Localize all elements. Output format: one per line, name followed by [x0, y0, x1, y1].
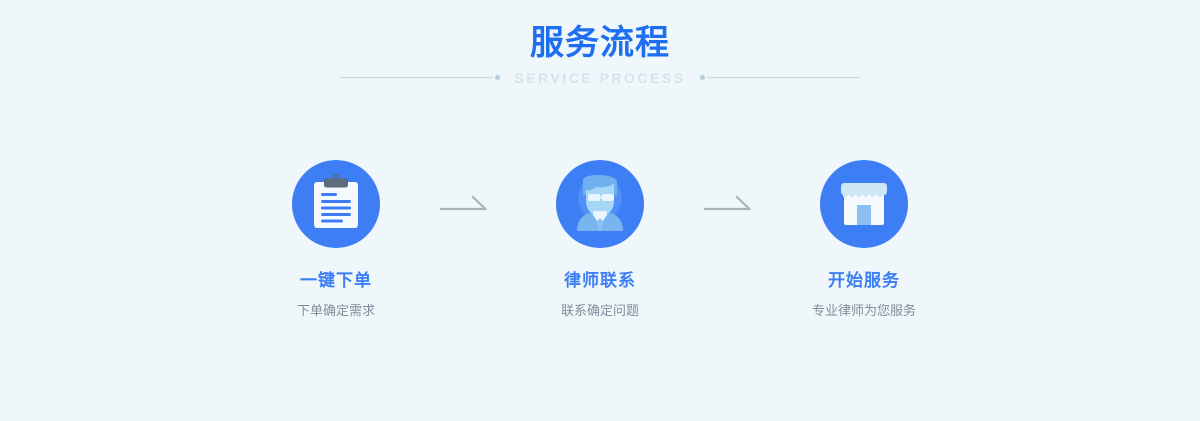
arrow-right-icon-1: [423, 160, 513, 248]
clipboard-icon: [310, 174, 362, 235]
divider-left-bar: [340, 77, 493, 78]
step-2-description: 联系确定问题: [561, 302, 639, 320]
step-3-title: 开始服务: [828, 270, 900, 292]
step-3-icon-circle: [820, 160, 908, 248]
page-subtitle: SERVICE PROCESS: [500, 70, 699, 86]
page-title: 服务流程: [0, 22, 1200, 64]
step-1-description: 下单确定需求: [297, 302, 375, 320]
process-step-2[interactable]: 律师联系 联系确定问题: [513, 160, 687, 320]
service-process-steps: 一键下单 下单确定需求: [0, 160, 1200, 320]
lawyer-person-icon: [569, 171, 631, 238]
process-step-3[interactable]: 开始服务 专业律师为您服务: [777, 160, 951, 320]
storefront-icon: [838, 177, 890, 232]
divider-right: [700, 73, 860, 83]
step-2-title: 律师联系: [564, 270, 636, 292]
arrow-right-icon-2: [687, 160, 777, 248]
step-1-title: 一键下单: [300, 270, 372, 292]
process-step-1[interactable]: 一键下单 下单确定需求: [249, 160, 423, 320]
divider-right-bar: [707, 77, 860, 78]
step-2-icon-circle: [556, 160, 644, 248]
step-3-description: 专业律师为您服务: [812, 302, 916, 320]
divider-right-dot: [700, 75, 705, 80]
divider-left: [340, 73, 500, 83]
step-1-icon-circle: [292, 160, 380, 248]
divider-left-dot: [495, 75, 500, 80]
section-header: 服务流程 SERVICE PROCESS: [0, 0, 1200, 100]
subtitle-row: SERVICE PROCESS: [0, 66, 1200, 90]
